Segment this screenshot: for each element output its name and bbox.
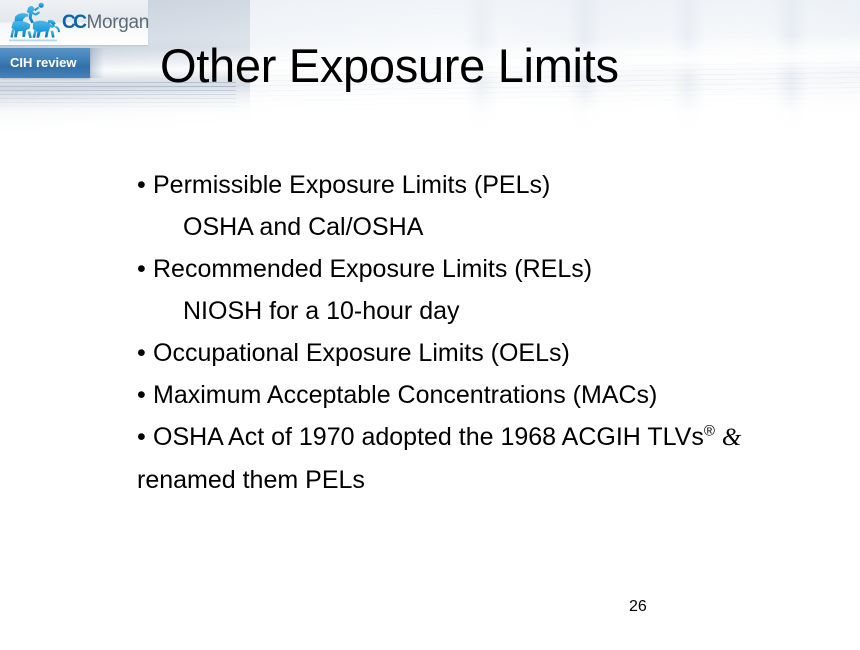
list-subitem-text: NIOSH for a 10-hour day [183, 297, 460, 325]
list-item-text: Recommended Exposure Limits (RELs) [153, 255, 592, 283]
list-subitem: NIOSH for a 10-hour day [137, 290, 827, 332]
list-subitem-text: OSHA and Cal/OSHA [183, 213, 423, 241]
page-number: 26 [629, 597, 647, 617]
ampersand-glyph: & [722, 424, 741, 451]
list-item: •Permissible Exposure Limits (PELs) [137, 164, 827, 206]
cih-review-tab[interactable]: CIH review [0, 48, 90, 78]
bullet-glyph-icon: • [137, 332, 153, 374]
logo-mark-word: Morgan [86, 12, 149, 33]
list-subitem: OSHA and Cal/OSHA [137, 206, 827, 248]
bullet-glyph-icon: • [137, 374, 153, 416]
list-item-text-part3: renamed them PELs [137, 466, 365, 494]
bullet-list: •Permissible Exposure Limits (PELs) OSHA… [137, 164, 827, 501]
registered-trademark-icon: ® [704, 423, 715, 440]
logo-plate: CCMorgan [0, 0, 148, 45]
page-title: Other Exposure Limits [160, 38, 720, 94]
cih-review-tab-label: CIH review [10, 55, 76, 71]
logo-wordmark: CCMorgan [62, 13, 149, 32]
list-item-text: Maximum Acceptable Concentrations (MACs) [153, 381, 657, 409]
list-item-trademark: •OSHA Act of 1970 adopted the 1968 ACGIH… [137, 416, 827, 501]
bullet-glyph-icon: • [137, 248, 153, 290]
slide-canvas: CCMorgan CIH review Other Exposure Limit… [0, 0, 860, 650]
rider-on-lion-emblem-icon [5, 2, 63, 43]
bullet-glyph-icon: • [137, 416, 153, 458]
logo-mark-prefix: CC [62, 12, 84, 33]
list-item: •Recommended Exposure Limits (RELs) [137, 248, 827, 290]
bullet-glyph-icon: • [137, 164, 153, 206]
cih-review-tab-shadow [90, 48, 104, 78]
list-item-text-part1: OSHA Act of 1970 adopted the 1968 ACGIH … [153, 423, 704, 451]
list-item: •Occupational Exposure Limits (OELs) [137, 332, 827, 374]
list-item-text: Occupational Exposure Limits (OELs) [153, 339, 570, 367]
list-item: •Maximum Acceptable Concentrations (MACs… [137, 374, 827, 416]
list-item-text: Permissible Exposure Limits (PELs) [153, 171, 550, 199]
